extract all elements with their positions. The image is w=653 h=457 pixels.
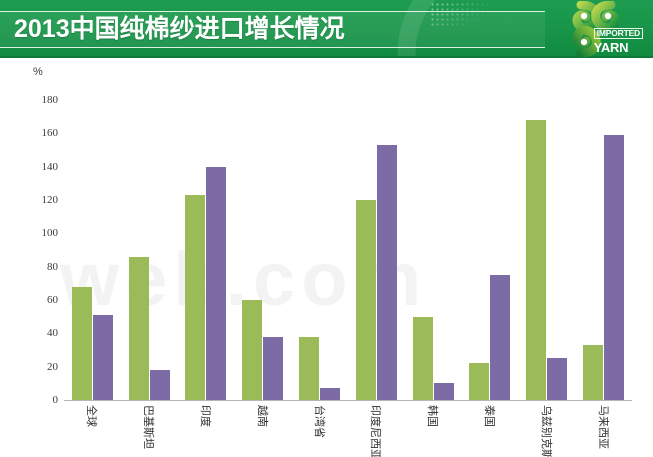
x-axis-label-cell: 全球 xyxy=(64,403,121,457)
bar[interactable] xyxy=(490,275,510,400)
x-axis-tick-label: 全球 xyxy=(84,405,100,427)
bar[interactable] xyxy=(72,287,92,400)
x-axis-tick-label: 巴基斯坦 xyxy=(141,405,157,449)
x-axis-tick-label: 台湾省 xyxy=(312,405,328,438)
x-axis-label-cell: 台湾省 xyxy=(291,403,348,457)
bar[interactable] xyxy=(206,167,226,400)
bar[interactable] xyxy=(469,363,489,400)
x-axis-tick-label: 韩国 xyxy=(425,405,441,427)
x-axis-label-cell: 马来西亚 xyxy=(575,403,632,457)
x-axis-tick-label: 乌兹别克斯坦 xyxy=(539,405,555,457)
bar[interactable] xyxy=(320,388,340,400)
x-axis-tick-label: 越南 xyxy=(255,405,271,427)
y-axis-tick-label: 40 xyxy=(2,327,58,339)
bar[interactable] xyxy=(583,345,603,400)
bar[interactable] xyxy=(299,337,319,400)
x-axis-line xyxy=(64,400,632,401)
x-axis-tick-label: 泰国 xyxy=(482,405,498,427)
bar-group xyxy=(575,100,632,400)
x-axis-tick-label: 马来西亚 xyxy=(596,405,612,449)
bar[interactable] xyxy=(356,200,376,400)
x-axis-label-cell: 印度 xyxy=(178,403,235,457)
bar-group xyxy=(121,100,178,400)
bar[interactable] xyxy=(150,370,170,400)
x-axis-label-cell: 泰国 xyxy=(462,403,519,457)
bar[interactable] xyxy=(377,145,397,400)
bar-group xyxy=(64,100,121,400)
x-axis-category-labels: 全球巴基斯坦印度越南台湾省印度尼西亚韩国泰国乌兹别克斯坦马来西亚 xyxy=(64,403,632,457)
logo-wordmark: IMPORTED YARN xyxy=(594,24,643,54)
x-axis-tick-label: 印度尼西亚 xyxy=(368,405,384,457)
y-axis-tick-labels: 020406080100120140160180 xyxy=(0,100,58,401)
x-axis-label-cell: 韩国 xyxy=(405,403,462,457)
y-axis-tick-label: 20 xyxy=(2,361,58,373)
bar[interactable] xyxy=(185,195,205,400)
bar[interactable] xyxy=(526,120,546,400)
bar[interactable] xyxy=(93,315,113,400)
x-axis-label-cell: 乌兹别克斯坦 xyxy=(518,403,575,457)
y-axis-tick-label: 100 xyxy=(2,227,58,239)
bar-groups xyxy=(64,100,632,400)
bar[interactable] xyxy=(129,257,149,400)
bar-group xyxy=(348,100,405,400)
logo-line-yarn: YARN xyxy=(594,41,643,54)
bar[interactable] xyxy=(263,337,283,400)
y-axis-tick-label: 180 xyxy=(2,94,58,106)
bar-group xyxy=(462,100,519,400)
y-axis-tick-label: 120 xyxy=(2,194,58,206)
bar-group xyxy=(291,100,348,400)
x-axis-tick-label: 印度 xyxy=(198,405,214,427)
y-axis-tick-label: 60 xyxy=(2,294,58,306)
y-axis-tick-label: 140 xyxy=(2,161,58,173)
chart-container: % web.com 020406080100120140160180 全球巴基斯… xyxy=(0,58,653,457)
y-axis-tick-label: 160 xyxy=(2,127,58,139)
bar-group xyxy=(518,100,575,400)
x-axis-label-cell: 印度尼西亚 xyxy=(348,403,405,457)
bar[interactable] xyxy=(434,383,454,400)
y-axis-tick-label: 80 xyxy=(2,261,58,273)
imported-yarn-logo: IMPORTED YARN xyxy=(551,1,647,57)
bar[interactable] xyxy=(604,135,624,400)
y-axis-tick-label: 0 xyxy=(2,394,58,406)
x-axis-label-cell: 越南 xyxy=(234,403,291,457)
bar-group xyxy=(178,100,235,400)
logo-line-imported: IMPORTED xyxy=(594,28,643,39)
bar-group xyxy=(234,100,291,400)
page-title: 2013中国纯棉纱进口增长情况 xyxy=(14,11,345,48)
bar[interactable] xyxy=(242,300,262,400)
x-axis-label-cell: 巴基斯坦 xyxy=(121,403,178,457)
bar[interactable] xyxy=(413,317,433,400)
y-axis-unit-label: % xyxy=(33,66,43,78)
bar[interactable] xyxy=(547,358,567,400)
screenshot-root: 2013中国纯棉纱进口增长情况 IMPORTED xyxy=(0,0,653,457)
bar-group xyxy=(405,100,462,400)
